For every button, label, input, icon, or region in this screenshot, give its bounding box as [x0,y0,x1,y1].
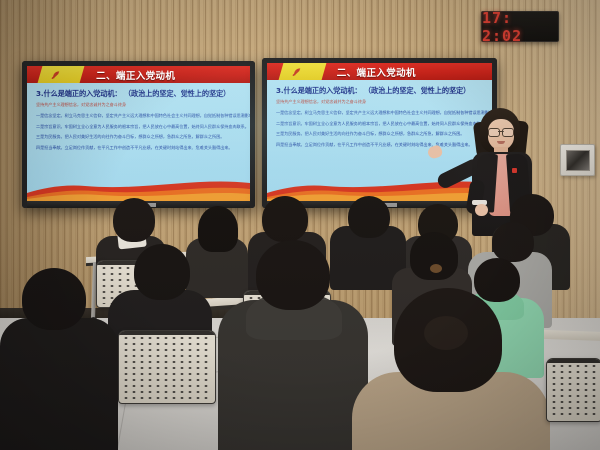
classroom-chair[interactable] [546,358,600,422]
instructor-gesturing-hand [475,204,488,216]
student-hair-clip [430,264,442,273]
slide-subline: 坚持共产主义理想信念，对党忠诚并为之奋斗终身 [276,100,483,105]
student-head [262,196,308,242]
slide-body-left: 3.什么是端正的入党动机： （政治上的坚定、觉性上的坚定） 坚持共产主义理想信念… [27,83,250,150]
student-hair-bun [424,316,468,350]
glasses-lens-left [488,128,500,137]
student-head [22,268,86,330]
slide-paragraph: 一是信念坚定。树立马克思主义信仰，坚定共产主义远大理想和中国特色社会主义共同理想… [36,113,241,118]
student-head [348,196,390,238]
slide-banner-title: 二、端正入党动机 [96,68,175,82]
led-wall-clock: 17: 2:02 [481,11,559,42]
presentation-slide-left: 二、端正入党动机 3.什么是端正的入党动机： （政治上的坚定、觉性上的坚定） 坚… [27,66,250,201]
slide-decorative-wave [27,175,250,201]
classroom-scene: 17: 2:02 二、端正入党动机 3.什么是端正的入党动机： （政治上的坚定、… [0,0,600,450]
classroom-chair[interactable] [118,330,216,404]
instructor-pointing-hand [426,144,443,160]
student-torso [0,318,118,450]
slide-paragraph: 二是宗旨意识。牢固树立全心全意为人民服务的根本宗旨，把人民放在心中最高位置，始终… [36,124,241,129]
hammer-sickle-icon [50,69,61,80]
instructor-badge [512,168,517,173]
clock-digits: 17: 2:02 [482,9,558,45]
banner-yellow-shape [278,63,326,80]
student-head [134,244,190,300]
slide-heading: 3.什么是端正的入党动机： （政治上的坚定、觉性上的坚定） [276,87,483,96]
glasses-lens-right [502,128,514,137]
banner-yellow-shape [38,66,85,83]
slide-paragraph: 三是为民服务。把人民对美好生活的向往作为奋斗目标，想群众之所想，急群众之所急，解… [36,134,241,139]
chair-perforation [122,335,212,400]
control-panel-screen [566,150,590,171]
chair-perforation [550,363,598,418]
slide-title-banner: 二、端正入党动机 [267,63,492,80]
wall-control-panel[interactable] [560,144,595,176]
chair-perforation [386,357,490,420]
interactive-display-left[interactable]: 二、端正入党动机 3.什么是端正的入党动机： （政治上的坚定、觉性上的坚定） 坚… [22,61,255,208]
slide-title-banner: 二、端正入党动机 [27,66,250,83]
student-head [256,240,330,310]
slide-subline: 坚持共产主义理想信念，对党忠诚并为之奋斗终身 [36,103,241,108]
student-head [198,206,238,252]
slide-paragraph: 四是担当奉献。立足岗位作贡献，在平凡工作中创造不平凡业绩，在关键时刻站得出来、危… [36,145,241,150]
student-head [492,222,534,262]
hammer-sickle-icon [291,66,302,77]
eyeglasses-icon [488,128,514,135]
student-head [113,198,155,242]
slide-heading: 3.什么是端正的入党动机： （政治上的坚定、觉性上的坚定） [36,90,241,99]
student-head [474,258,520,302]
slide-banner-title: 二、端正入党动机 [337,65,416,79]
